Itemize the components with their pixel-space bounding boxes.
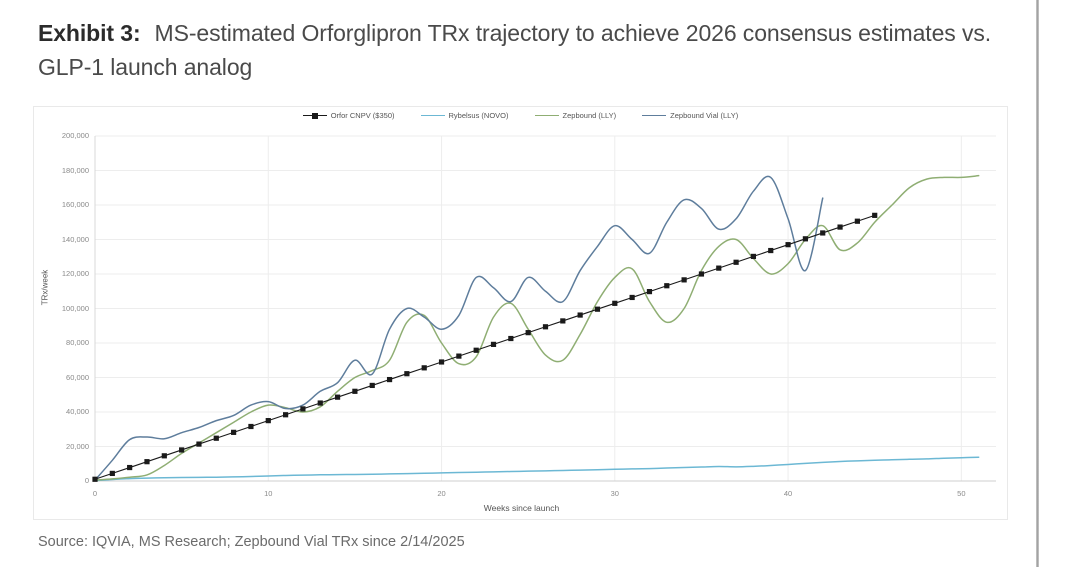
series-zepbound-vial-lly (95, 176, 823, 480)
series-orfor-cnpv-350 (92, 213, 877, 482)
data-point-marker (266, 418, 271, 423)
data-point-marker (612, 301, 617, 306)
page-gutter (1039, 0, 1080, 567)
data-point-marker (474, 348, 479, 353)
data-point-marker (508, 336, 513, 341)
report-page: Exhibit 3:MS-estimated Orforglipron TRx … (0, 0, 1038, 567)
data-point-marker (751, 254, 756, 259)
data-point-marker (335, 395, 340, 400)
y-tick-label: 20,000 (43, 442, 89, 451)
data-point-marker (387, 377, 392, 382)
data-point-marker (837, 224, 842, 229)
data-point-marker (820, 230, 825, 235)
chart-card: Orfor CNPV ($350)Rybelsus (NOVO)Zepbound… (33, 106, 1008, 520)
y-tick-label: 140,000 (43, 235, 89, 244)
x-tick-label: 20 (427, 489, 457, 498)
data-point-marker (491, 342, 496, 347)
data-point-marker (803, 236, 808, 241)
data-point-marker (785, 242, 790, 247)
x-tick-label: 0 (80, 489, 110, 498)
x-tick-label: 10 (253, 489, 283, 498)
x-axis-label: Weeks since launch (34, 503, 1009, 513)
series-line (95, 457, 979, 480)
data-point-marker (578, 312, 583, 317)
data-point-marker (682, 277, 687, 282)
data-point-marker (543, 324, 548, 329)
data-point-marker (768, 248, 773, 253)
data-point-marker (699, 271, 704, 276)
data-point-marker (526, 330, 531, 335)
data-point-marker (595, 307, 600, 312)
y-tick-label: 160,000 (43, 200, 89, 209)
data-point-marker (872, 213, 877, 218)
exhibit-title-text: MS-estimated Orforglipron TRx trajectory… (38, 20, 991, 80)
data-point-marker (352, 389, 357, 394)
y-tick-label: 60,000 (43, 373, 89, 382)
series-rybelsus-novo (95, 457, 979, 480)
data-point-marker (231, 430, 236, 435)
data-point-marker (248, 424, 253, 429)
series-line (95, 176, 823, 480)
data-point-marker (630, 295, 635, 300)
data-point-marker (439, 359, 444, 364)
x-tick-label: 40 (773, 489, 803, 498)
data-point-marker (370, 383, 375, 388)
y-tick-label: 200,000 (43, 131, 89, 140)
data-point-marker (179, 447, 184, 452)
data-point-marker (647, 289, 652, 294)
series-line (95, 215, 875, 479)
chart-svg (34, 107, 1009, 521)
data-point-marker (162, 453, 167, 458)
x-tick-label: 50 (946, 489, 976, 498)
page-title: Exhibit 3:MS-estimated Orforglipron TRx … (38, 16, 1008, 84)
x-tick-label: 30 (600, 489, 630, 498)
data-point-marker (318, 400, 323, 405)
data-point-marker (456, 354, 461, 359)
data-point-marker (196, 441, 201, 446)
data-point-marker (560, 318, 565, 323)
data-point-marker (144, 459, 149, 464)
data-point-marker (422, 365, 427, 370)
data-point-marker (127, 465, 132, 470)
exhibit-label: Exhibit 3: (38, 20, 141, 46)
data-point-marker (214, 436, 219, 441)
y-tick-label: 120,000 (43, 269, 89, 278)
y-tick-label: 180,000 (43, 166, 89, 175)
data-point-marker (283, 412, 288, 417)
data-point-marker (110, 471, 115, 476)
source-note: Source: IQVIA, MS Research; Zepbound Via… (38, 534, 465, 550)
y-tick-label: 80,000 (43, 338, 89, 347)
data-point-marker (734, 260, 739, 265)
y-tick-label: 40,000 (43, 407, 89, 416)
y-tick-label: 0 (43, 476, 89, 485)
data-point-marker (92, 477, 97, 482)
data-point-marker (855, 219, 860, 224)
data-point-marker (716, 266, 721, 271)
data-point-marker (300, 406, 305, 411)
y-tick-label: 100,000 (43, 304, 89, 313)
data-point-marker (664, 283, 669, 288)
data-point-marker (404, 371, 409, 376)
plot-area: TRx/week Weeks since launch 020,00040,00… (34, 107, 1009, 521)
